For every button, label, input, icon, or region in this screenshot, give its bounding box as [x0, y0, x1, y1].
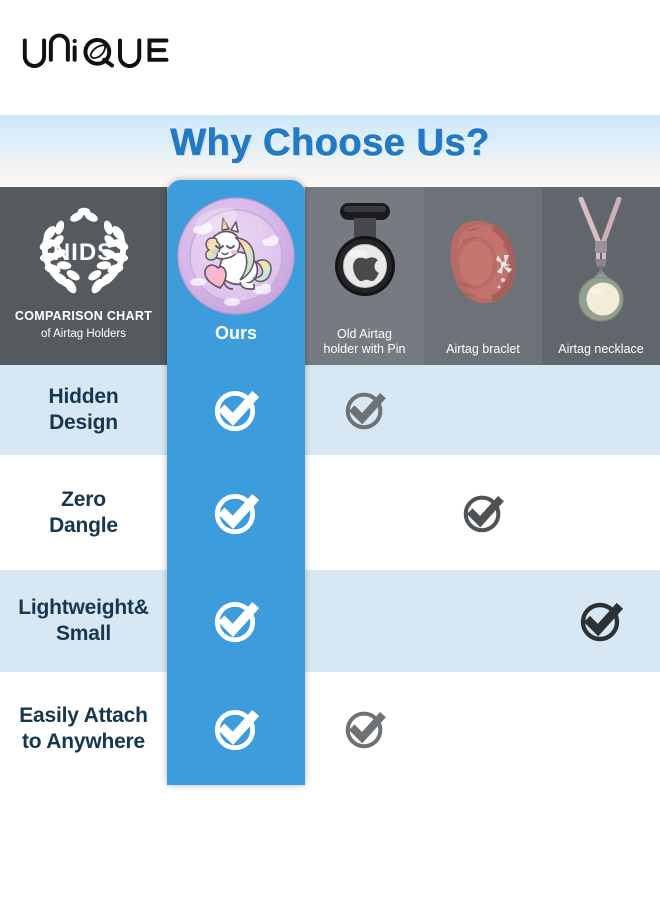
feature-label-cell: Zero Dangle	[0, 455, 167, 570]
check-circle-icon	[342, 706, 388, 752]
ours-highlight-column[interactable]: Ours	[167, 180, 305, 785]
check-circle-icon	[211, 704, 261, 754]
old-pin-header-label: Old Airtag holder with Pin	[305, 327, 424, 357]
check-circle-icon	[211, 385, 261, 435]
ours-label: Ours	[167, 323, 305, 344]
necklace-cell	[542, 672, 660, 785]
comparison-chart-subtitle: of Airtag Holders	[0, 328, 167, 340]
feature-label: Lightweight& Small	[14, 595, 153, 647]
bracelet-cell	[424, 570, 542, 672]
necklace-header-cell: Airtag necklace	[542, 187, 660, 365]
nids-label: NIDS	[53, 239, 114, 267]
table-row: Easily Attach to Anywhere	[0, 672, 660, 785]
bracelet-header-cell: Airtag braclet	[424, 187, 542, 365]
bracelet-header-label: Airtag braclet	[424, 342, 542, 357]
necklace-cell	[542, 455, 660, 570]
old-pin-cell	[305, 672, 424, 785]
bracelet-cell	[424, 455, 542, 570]
page-title: Why Choose Us?	[0, 122, 660, 165]
ours-check-cell	[167, 365, 305, 455]
check-circle-icon	[211, 596, 261, 646]
necklace-cell	[542, 570, 660, 672]
brand-header	[0, 0, 660, 115]
check-circle-icon	[577, 597, 625, 645]
check-circle-icon	[211, 488, 261, 538]
feature-label-cell: Easily Attach to Anywhere	[0, 672, 167, 785]
necklace-cell	[542, 365, 660, 455]
unique-wordmark-logo	[18, 30, 188, 76]
feature-label: Zero Dangle	[45, 487, 122, 539]
airtag-necklace-icon	[561, 197, 641, 327]
old-pin-cell	[305, 570, 424, 672]
nids-badge-cell: NIDS COMPARISON CHART of Airtag Holders	[0, 187, 167, 365]
feature-label-cell: Hidden Design	[0, 365, 167, 455]
ours-check-cell	[167, 570, 305, 672]
bracelet-cell	[424, 672, 542, 785]
old-pin-cell	[305, 365, 424, 455]
ours-check-list	[167, 365, 305, 785]
ours-check-cell	[167, 672, 305, 785]
feature-label: Easily Attach to Anywhere	[15, 703, 152, 755]
check-circle-icon	[342, 387, 388, 433]
comparison-infographic: Why Choose Us?	[0, 0, 660, 900]
unicorn-airtag-holder-icon	[174, 194, 298, 318]
ours-check-cell	[167, 455, 305, 570]
feature-label-cell: Lightweight& Small	[0, 570, 167, 672]
airtag-bracelet-icon	[435, 197, 531, 317]
necklace-header-label: Airtag necklace	[542, 342, 660, 357]
comparison-table: NIDS COMPARISON CHART of Airtag Holders	[0, 187, 660, 785]
table-row: Zero Dangle	[0, 455, 660, 570]
nids-badge-icon: NIDS	[0, 193, 167, 315]
feature-label: Hidden Design	[45, 384, 123, 436]
table-header-row: NIDS COMPARISON CHART of Airtag Holders	[0, 187, 660, 365]
table-row: Lightweight& Small	[0, 570, 660, 672]
check-circle-icon	[460, 490, 506, 536]
airtag-pin-holder-icon	[326, 197, 404, 315]
table-row: Hidden Design	[0, 365, 660, 455]
comparison-chart-label: COMPARISON CHART	[0, 309, 167, 323]
bracelet-cell	[424, 365, 542, 455]
old-pin-header-cell: Old Airtag holder with Pin	[305, 187, 424, 365]
old-pin-cell	[305, 455, 424, 570]
